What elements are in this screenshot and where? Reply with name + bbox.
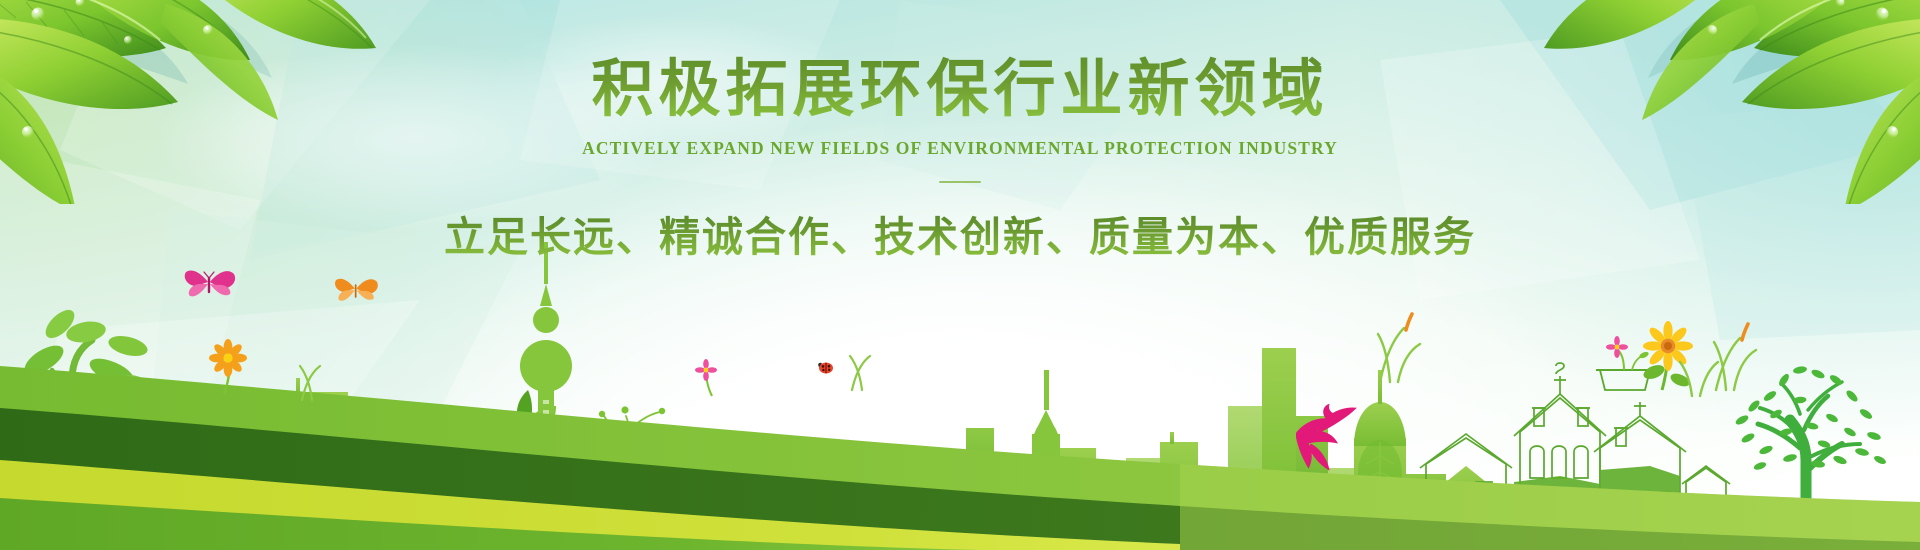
- flower-icon: [209, 339, 247, 394]
- environmental-banner: 积极拓展环保行业新领域 ACTIVELY EXPAND NEW FIELDS O…: [0, 0, 1920, 550]
- company-slogan: 立足长远、精诚合作、技术创新、质量为本、优质服务: [0, 203, 1920, 263]
- foreground-details: [0, 250, 1920, 550]
- page-title: 积极拓展环保行业新领域: [0, 52, 1920, 125]
- butterfly-icon: [185, 270, 235, 296]
- flower-icon: [695, 359, 717, 396]
- grass-icon: [300, 366, 320, 400]
- divider: [939, 181, 981, 183]
- ladybug-icon: [818, 363, 833, 374]
- sunflower-icon: [1642, 321, 1693, 390]
- grass-icon: [1378, 314, 1420, 382]
- headline-block: 积极拓展环保行业新领域 ACTIVELY EXPAND NEW FIELDS O…: [0, 52, 1920, 263]
- butterfly-icon: [335, 279, 378, 301]
- grass-icon: [850, 356, 870, 390]
- grass-icon: [1714, 324, 1756, 390]
- page-subtitle-english: ACTIVELY EXPAND NEW FIELDS OF ENVIRONMEN…: [0, 138, 1920, 159]
